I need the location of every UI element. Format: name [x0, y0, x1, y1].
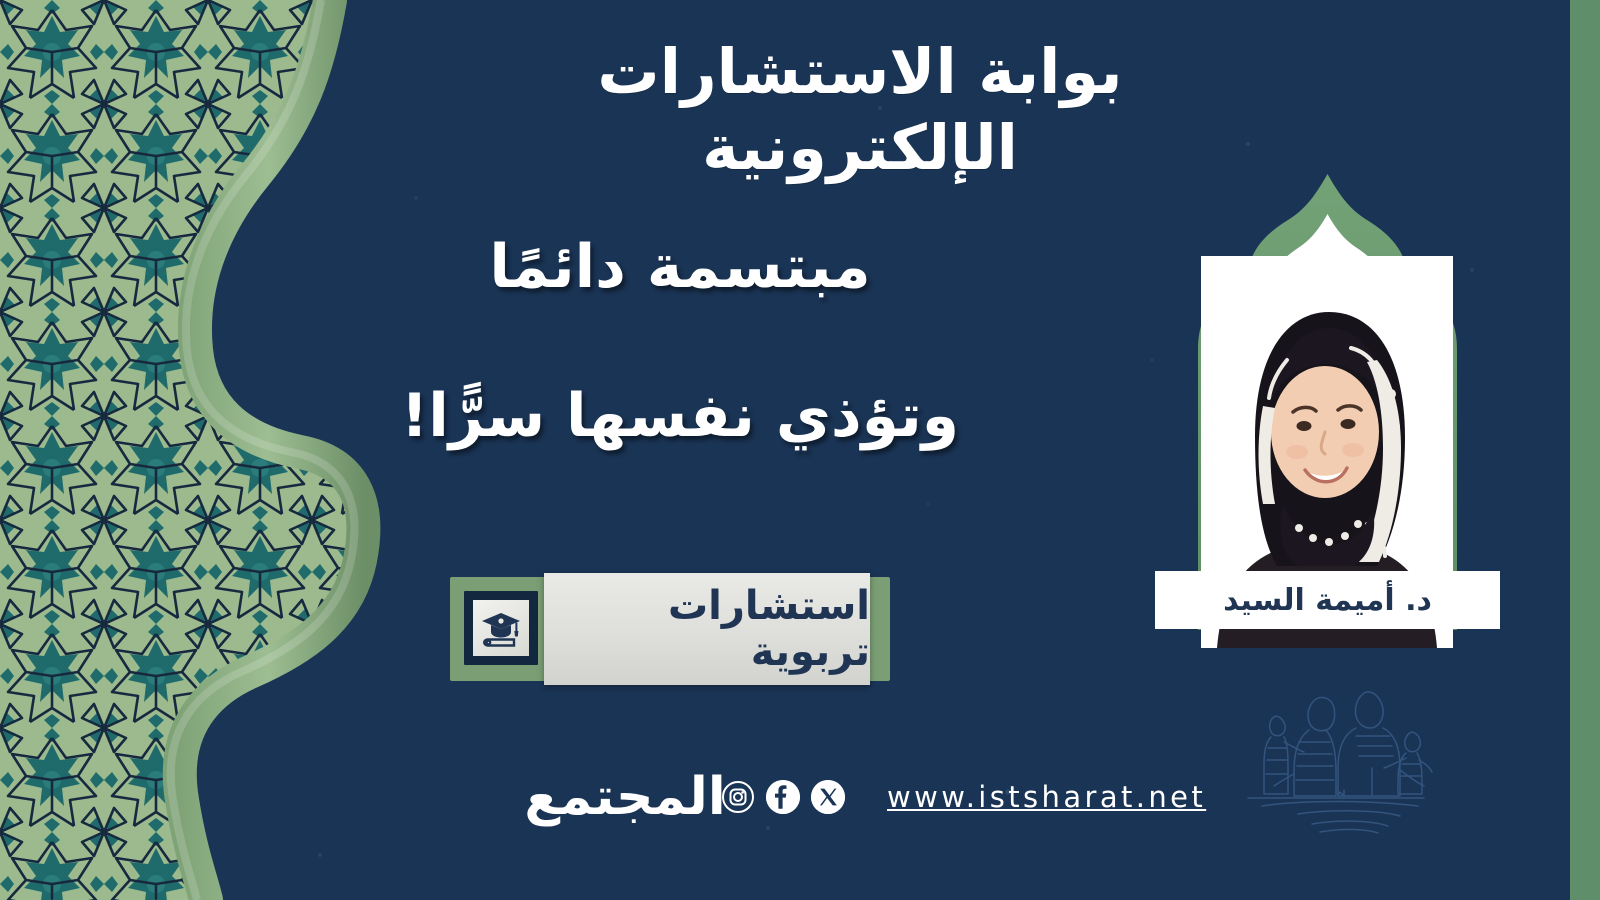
page-title: بوابة الاستشارات الإلكترونية	[430, 34, 1290, 185]
facebook-glyph	[766, 780, 800, 814]
badge-text-plate: استشارات تربوية	[544, 573, 870, 685]
islamic-star-pattern-icon	[0, 0, 420, 900]
brand-logo-text: المجتمع	[524, 771, 725, 823]
speaker-card: د. أميمة السيد	[1155, 168, 1500, 634]
footer-bar: المجتمع	[555, 752, 1206, 842]
speaker-name: د. أميمة السيد	[1223, 583, 1432, 618]
brand-logo: المجتمع	[555, 755, 695, 839]
speaker-nameplate: د. أميمة السيد	[1155, 571, 1500, 629]
facebook-icon[interactable]	[766, 780, 800, 814]
left-ornament-panel	[0, 0, 420, 900]
headline-line-2: وتؤذي نفسها سرًّا!	[360, 385, 1000, 448]
badge-icon-surface	[473, 600, 529, 656]
instagram-icon[interactable]	[721, 780, 755, 814]
headline-block: مبتسمة دائمًا وتؤذي نفسها سرًّا!	[360, 236, 1000, 448]
category-badge[interactable]: استشارات تربوية	[450, 573, 890, 685]
headline-line-1: مبتسمة دائمًا	[360, 236, 1000, 299]
social-card: بوابة الاستشارات الإلكترونية مبتسمة دائم…	[0, 0, 1600, 900]
badge-icon-frame	[464, 591, 538, 665]
x-twitter-icon[interactable]	[811, 780, 845, 814]
social-links	[721, 780, 845, 814]
x-glyph	[811, 780, 845, 814]
instagram-glyph	[722, 781, 754, 813]
graduation-cap-book-icon	[479, 606, 523, 650]
website-url[interactable]: www.istsharat.net	[887, 780, 1206, 814]
family-line-art-icon	[1240, 690, 1500, 870]
right-green-strip	[1570, 0, 1600, 900]
badge-label: استشارات تربوية	[544, 583, 870, 675]
